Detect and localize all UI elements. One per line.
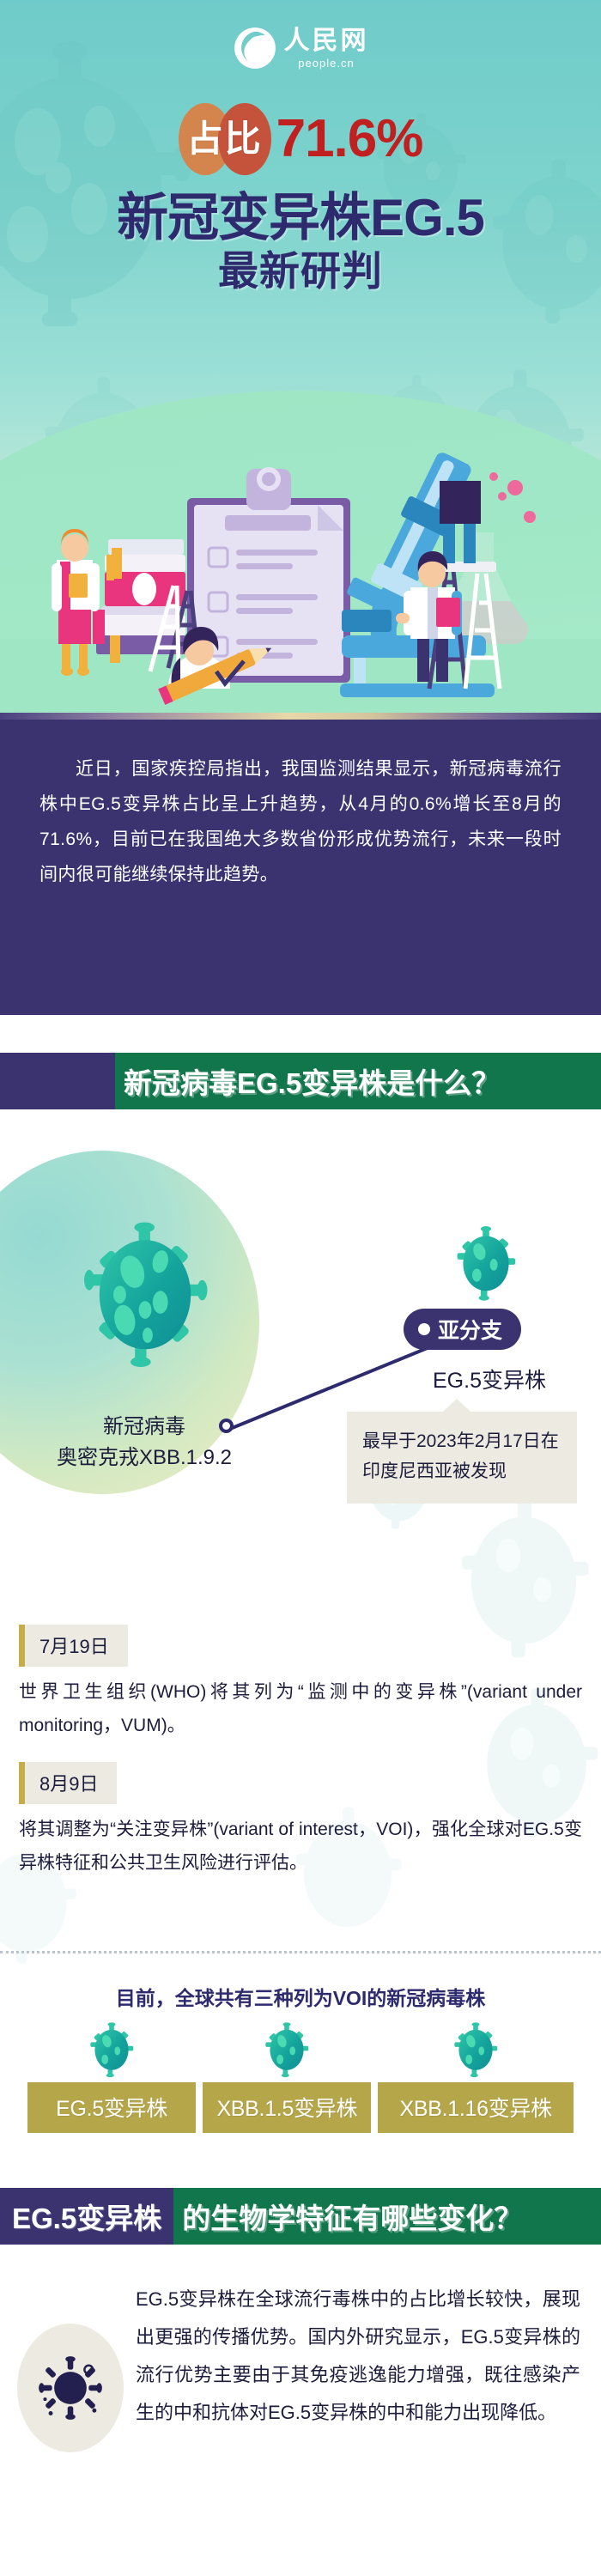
stat-label: 占比 <box>179 103 273 175</box>
infographic-page: 人民网 people.cn 占比 71.6% 新冠变异株EG.5 最新研判 <box>0 0 601 2576</box>
voi-strain-item: EG.5变异株 <box>27 2021 196 2133</box>
voi-strain-label: XBB.1.16变异株 <box>378 2082 574 2133</box>
timeline-text-2: 将其调整为“关注变异株”(variant of interest，VOI)，强化… <box>19 1814 582 1880</box>
timeline-date-1: 7月19日 <box>19 1625 128 1667</box>
bullet-dot-icon <box>418 1323 430 1335</box>
voi-strain-item: XBB.1.5变异株 <box>203 2021 371 2133</box>
section-header-2-title: 的生物学特征有哪些变化？ <box>173 2188 601 2245</box>
voi-strain-item: XBB.1.16变异株 <box>378 2021 574 2133</box>
timeline-date-2: 8月9日 <box>19 1762 117 1804</box>
stat-badge: 占比 <box>179 103 273 175</box>
spacer <box>0 2166 601 2188</box>
section-1-body: 新冠病毒 奥密克戎XBB.1.9.2 亚分支 EG.5变异株 最早于2023年2… <box>0 1109 601 2166</box>
page-title: 新冠变异株EG.5 最新研判 <box>0 191 601 295</box>
voi-strain-label: EG.5变异株 <box>27 2082 196 2133</box>
spacer <box>0 1015 601 1053</box>
page-title-line1: 新冠变异株EG.5 <box>0 191 601 245</box>
sublineage-pill: 亚分支 <box>404 1309 521 1350</box>
section-header-2-chip: EG.5变异株 <box>0 2188 173 2245</box>
parent-strain-label: 新冠病毒 奥密克戎XBB.1.9.2 <box>15 1412 273 1473</box>
site-logo[interactable]: 人民网 people.cn <box>0 26 601 70</box>
child-strain-label: EG.5变异株 <box>404 1364 575 1394</box>
people-cn-wave-logo-icon <box>233 26 277 70</box>
hero-illustration <box>0 352 601 713</box>
parent-virus-icon <box>81 1221 209 1367</box>
parent-strain-label-line2: 奥密克戎XBB.1.9.2 <box>15 1443 273 1473</box>
parent-strain-label-line1: 新冠病毒 <box>15 1412 273 1443</box>
virus-icon <box>263 2021 311 2078</box>
section-header-1-chip <box>0 1053 115 1109</box>
logo-text-cn: 人民网 <box>284 28 369 54</box>
discovery-callout: 最早于2023年2月17日在印度尼西亚被发现 <box>347 1412 577 1504</box>
lead-paragraph: 近日，国家疾控局指出，我国监测结果显示，新冠病毒流行株中EG.5变异株占比呈上升… <box>39 752 562 893</box>
page-title-line2: 最新研判 <box>0 248 601 295</box>
background-virus-icon <box>446 1487 601 1664</box>
virus-icon <box>88 2021 136 2078</box>
section-header-2: EG.5变异株 的生物学特征有哪些变化？ <box>0 2188 601 2245</box>
divider-dashed <box>0 1951 601 1953</box>
timeline-text-1: 世界卫生组织(WHO)将其列为“监测中的变异株”(variant under m… <box>19 1676 582 1743</box>
hero-banner: 人民网 people.cn 占比 71.6% 新冠变异株EG.5 最新研判 <box>0 0 601 713</box>
voi-group-title: 目前，全球共有三种列为VOI的新冠病毒株 <box>0 1982 601 2011</box>
section-header-1-title: 新冠病毒EG.5变异株是什么？ <box>115 1053 601 1109</box>
child-virus-icon <box>453 1225 519 1301</box>
headline-stat: 占比 71.6% <box>0 103 601 175</box>
voi-strain-label: XBB.1.5变异株 <box>203 2082 371 2133</box>
stat-value: 71.6% <box>276 103 423 175</box>
coronavirus-icon <box>17 2324 124 2452</box>
logo-text-en: people.cn <box>298 58 354 69</box>
section-2-body: EG.5变异株在全球流行毒株中的占比增长较快，展现出更强的传播优势。国内外研究显… <box>0 2245 601 2452</box>
voi-strain-list: EG.5变异株 XBB <box>27 2021 574 2133</box>
sublineage-pill-label: 亚分支 <box>438 1314 502 1345</box>
section-header-1: 新冠病毒EG.5变异株是什么？ <box>0 1053 601 1109</box>
virus-icon <box>452 2021 500 2078</box>
lead-summary-block: 近日，国家疾控局指出，我国监测结果显示，新冠病毒流行株中EG.5变异株占比呈上升… <box>0 713 601 1015</box>
section-2-paragraph: EG.5变异株在全球流行毒株中的占比增长较快，展现出更强的传播优势。国内外研究显… <box>136 2274 580 2432</box>
